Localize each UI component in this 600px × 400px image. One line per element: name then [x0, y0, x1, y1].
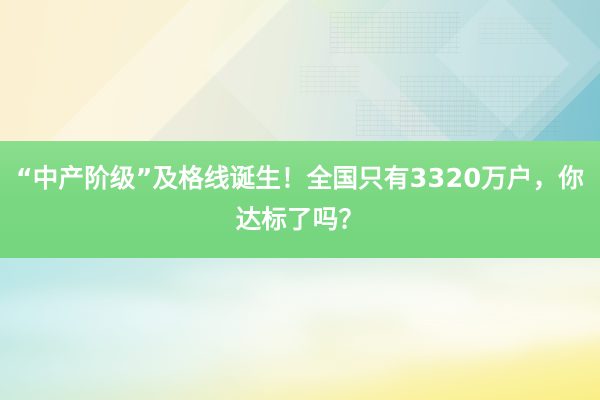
sky-cloud-gradient-panel: [0, 258, 600, 400]
faint-texture-block: [478, 18, 552, 44]
article-cover-banner: “中产阶级”及格线诞生！全国只有3320万户，你达标了吗？: [0, 0, 600, 400]
cloud-shape: [0, 354, 220, 384]
cloud-shape: [0, 292, 180, 338]
faint-texture-block: [300, 66, 360, 96]
cloud-shape: [120, 300, 310, 334]
diagonal-facet-shape: [435, 0, 600, 140]
cloud-shape: [220, 358, 400, 380]
cloud-shape: [250, 276, 480, 316]
cloud-shape: [330, 328, 530, 358]
headline-text: “中产阶级”及格线诞生！全国只有3320万户，你达标了吗？: [6, 159, 594, 241]
green-headline-band: “中产阶级”及格线诞生！全国只有3320万户，你达标了吗？: [0, 141, 600, 258]
diagonal-facet-shape: [330, 0, 600, 141]
diagonal-facet-shape: [116, 0, 512, 141]
cloud-shape: [470, 262, 600, 288]
diagonal-facet-shape: [38, 0, 547, 141]
diagonal-facet-shape: [202, 0, 570, 141]
geometric-gradient-panel: [0, 0, 600, 141]
cloud-shape: [170, 268, 290, 292]
faint-texture-block: [330, 12, 460, 54]
cloud-shape: [400, 296, 600, 344]
faint-texture-block: [400, 76, 560, 136]
faint-texture-block: [356, 100, 476, 136]
cloud-shape: [60, 324, 320, 360]
